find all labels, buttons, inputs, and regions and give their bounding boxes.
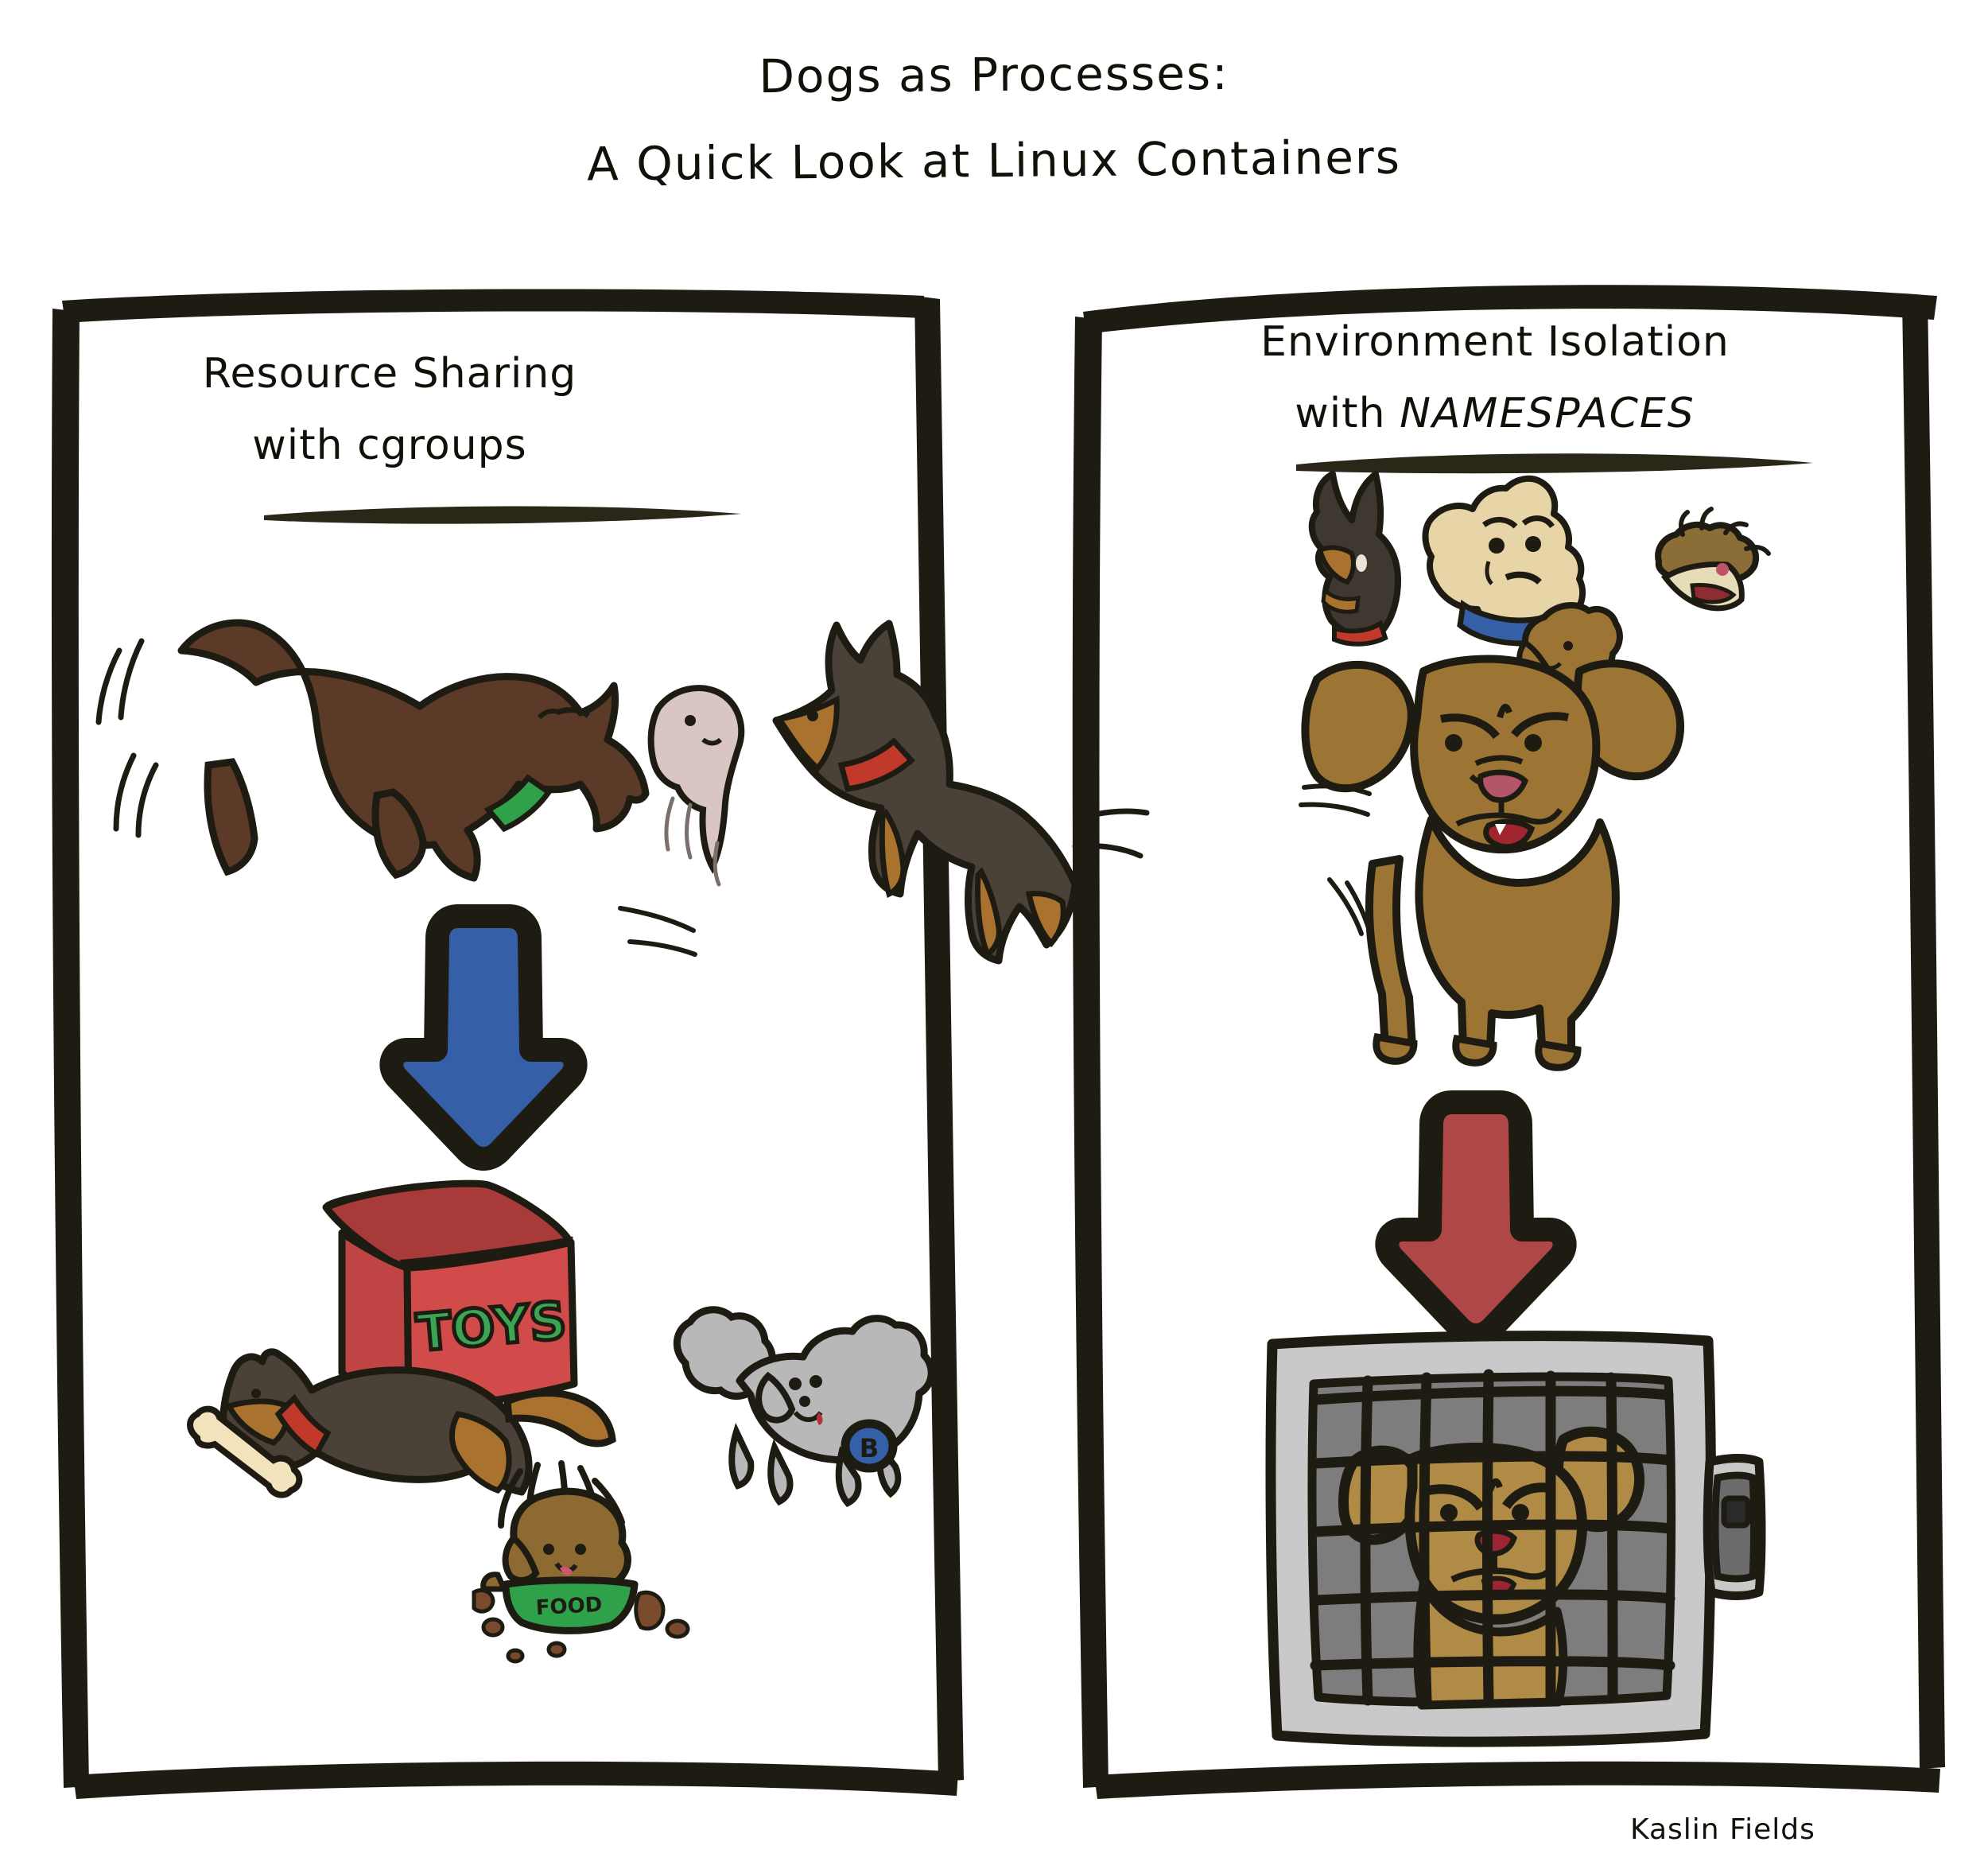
left-heading-line-1: Resource Sharing (143, 350, 636, 398)
brown-labrador-play-bow (181, 623, 646, 878)
left-heading-line-2: with cgroups (143, 422, 636, 469)
crate-latch (1707, 1459, 1761, 1596)
ball-label: B (860, 1433, 879, 1463)
white-poodle (677, 1310, 931, 1503)
motion-lines-left (99, 641, 156, 835)
right-heading-emphasis: NAMESPACES (1400, 390, 1695, 437)
scene-shared-resources: TOYS (190, 1183, 931, 1661)
left-panel-heading: Resource Sharing with cgroups (143, 350, 636, 469)
artist-credit: Kaslin Fields (1630, 1813, 1815, 1846)
left-heading-underline (264, 506, 741, 523)
mouth (1486, 822, 1532, 847)
scene-two-dogs-tug-of-war (99, 623, 1147, 961)
right-heading-prefix: with (1295, 390, 1400, 437)
scene-dog-in-crate (1271, 1336, 1761, 1742)
scene-angry-brown-dog (1301, 659, 1680, 1068)
blue-ball: B (845, 1424, 893, 1468)
comic-canvas: Dogs as Processes: A Quick Look at Linux… (0, 0, 1988, 1869)
right-heading-line-1: Environment Isolation (1185, 318, 1805, 366)
plush-toy (651, 688, 742, 884)
food-bowl-label: FOOD (535, 1593, 603, 1620)
shaggy-dog-head (1658, 509, 1769, 608)
illustration-layer: TOYS (0, 0, 1988, 1869)
puppy-at-food-bowl: FOOD (474, 1463, 688, 1661)
right-heading-line-2: with NAMESPACES (1185, 390, 1805, 437)
down-arrow-blue (391, 916, 575, 1159)
right-heading-underline (1296, 453, 1813, 473)
doberman-head (1312, 474, 1398, 644)
right-panel-heading: Environment Isolation with NAMESPACES (1185, 318, 1805, 437)
down-arrow-red (1387, 1102, 1564, 1335)
